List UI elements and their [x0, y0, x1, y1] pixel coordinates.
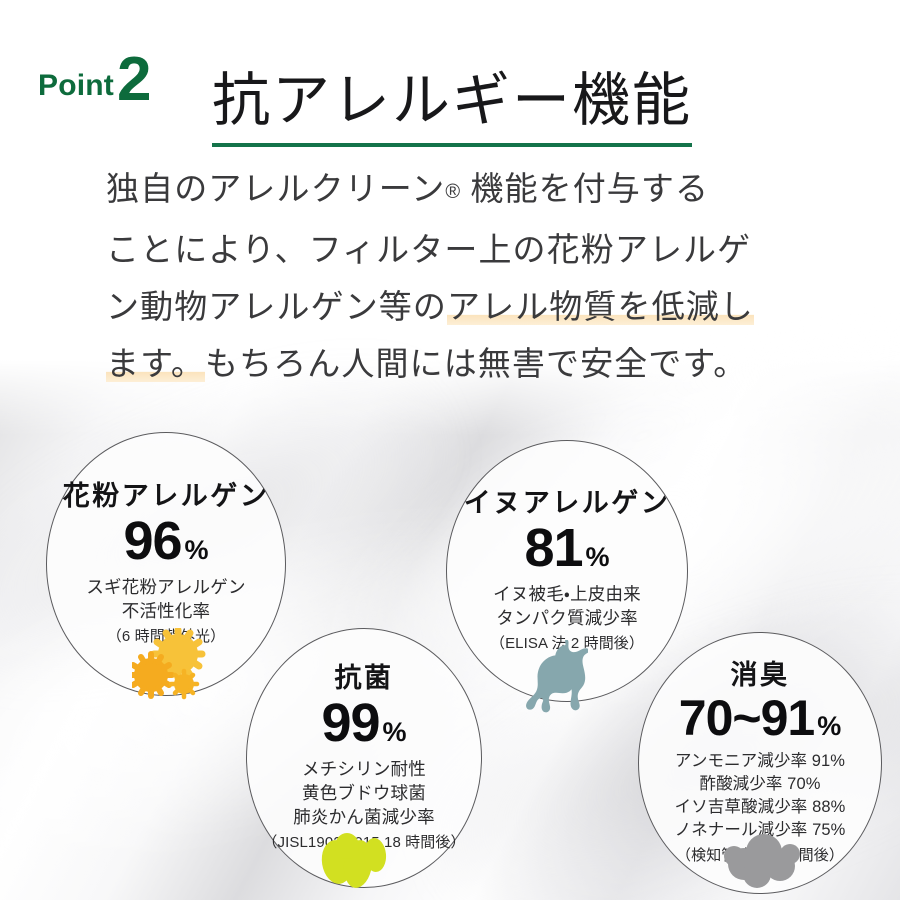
stat-percent-deodorizing: %	[817, 713, 841, 740]
point-badge: Point 2	[38, 44, 151, 106]
page-title: 抗アレルギー機能	[212, 69, 692, 147]
intro-line-1-a: 独自のアレルクリーン	[106, 170, 445, 207]
stat-desc-line: 不活性化率	[86, 599, 245, 623]
stat-desc-line: イヌ被毛・上皮由来	[493, 582, 641, 606]
intro-line-4: ます。もちろん人間には無害で安全です。	[106, 335, 816, 392]
stat-desc-pollen: スギ花粉アレルゲン 不活性化率	[86, 575, 245, 623]
stat-title-pollen: 花粉アレルゲン	[63, 483, 270, 510]
stat-desc-line: タンパク質減少率	[493, 606, 641, 630]
point-number: 2	[117, 49, 151, 111]
intro-line-4-b: もちろん人間には無害で安全です。	[205, 345, 747, 382]
stat-title-dog: イヌアレルゲン	[464, 490, 671, 517]
stat-desc-line: 黄色ブドウ球菌	[293, 781, 435, 805]
stat-desc-line: 肺炎かん菌減少率	[293, 805, 435, 829]
stat-value-antibacterial: 99 %	[321, 696, 406, 750]
pollen-grain-icon	[132, 628, 228, 708]
odor-cloud-icon	[722, 832, 802, 890]
stat-list-item: アンモニア減少率 91%	[675, 750, 846, 773]
stat-number-deodorizing: 70~91	[679, 693, 814, 743]
registered-trademark-icon: ®	[445, 181, 460, 203]
stat-number-antibacterial: 99	[321, 696, 379, 750]
stat-list-deodorizing: アンモニア減少率 91% 酢酸減少率 70% イソ吉草酸減少率 88% ノネナー…	[675, 750, 846, 842]
stat-list-item: 酢酸減少率 70%	[675, 773, 846, 796]
dog-silhouette-icon	[516, 640, 588, 714]
stat-percent-pollen: %	[185, 537, 209, 564]
infographic-page: Point 2 抗アレルギー機能 独自のアレルクリーン® 機能を付与する ことに…	[0, 0, 900, 900]
stat-desc-line: メチシリン耐性	[293, 757, 435, 781]
intro-line-1-b: 機能を付与する	[470, 170, 709, 207]
stat-desc-dog: イヌ被毛・上皮由来 タンパク質減少率	[493, 582, 641, 630]
stat-percent-dog: %	[586, 544, 610, 571]
stat-value-dog: 81 %	[524, 521, 609, 575]
intro-highlight-2: ます。	[106, 345, 205, 382]
stat-value-deodorizing: 70~91 %	[679, 693, 841, 743]
intro-line-3-a: ン動物アレルゲン等の	[106, 288, 447, 325]
stat-number-pollen: 96	[123, 514, 181, 568]
intro-line-3: ン動物アレルゲン等のアレル物質を低減し	[106, 278, 816, 335]
stat-percent-antibacterial: %	[383, 719, 407, 746]
stat-number-dog: 81	[524, 521, 582, 575]
stat-desc-line: スギ花粉アレルゲン	[86, 575, 245, 599]
point-label: Point	[38, 71, 114, 101]
intro-line-1: 独自のアレルクリーン® 機能を付与する	[106, 160, 816, 221]
bacteria-icon	[318, 828, 392, 894]
intro-paragraph: 独自のアレルクリーン® 機能を付与する ことにより、フィルター上の花粉アレルゲ …	[106, 160, 816, 392]
stat-value-pollen: 96 %	[123, 514, 208, 568]
stat-desc-antibacterial: メチシリン耐性 黄色ブドウ球菌 肺炎かん菌減少率	[293, 757, 435, 829]
intro-highlight-1: アレル物質を低減し	[447, 288, 754, 325]
stat-title-antibacterial: 抗菌	[335, 665, 394, 692]
intro-line-2: ことにより、フィルター上の花粉アレルゲ	[106, 221, 816, 278]
stat-list-item: イソ吉草酸減少率 88%	[675, 796, 846, 819]
stat-title-deodorizing: 消臭	[731, 662, 790, 689]
